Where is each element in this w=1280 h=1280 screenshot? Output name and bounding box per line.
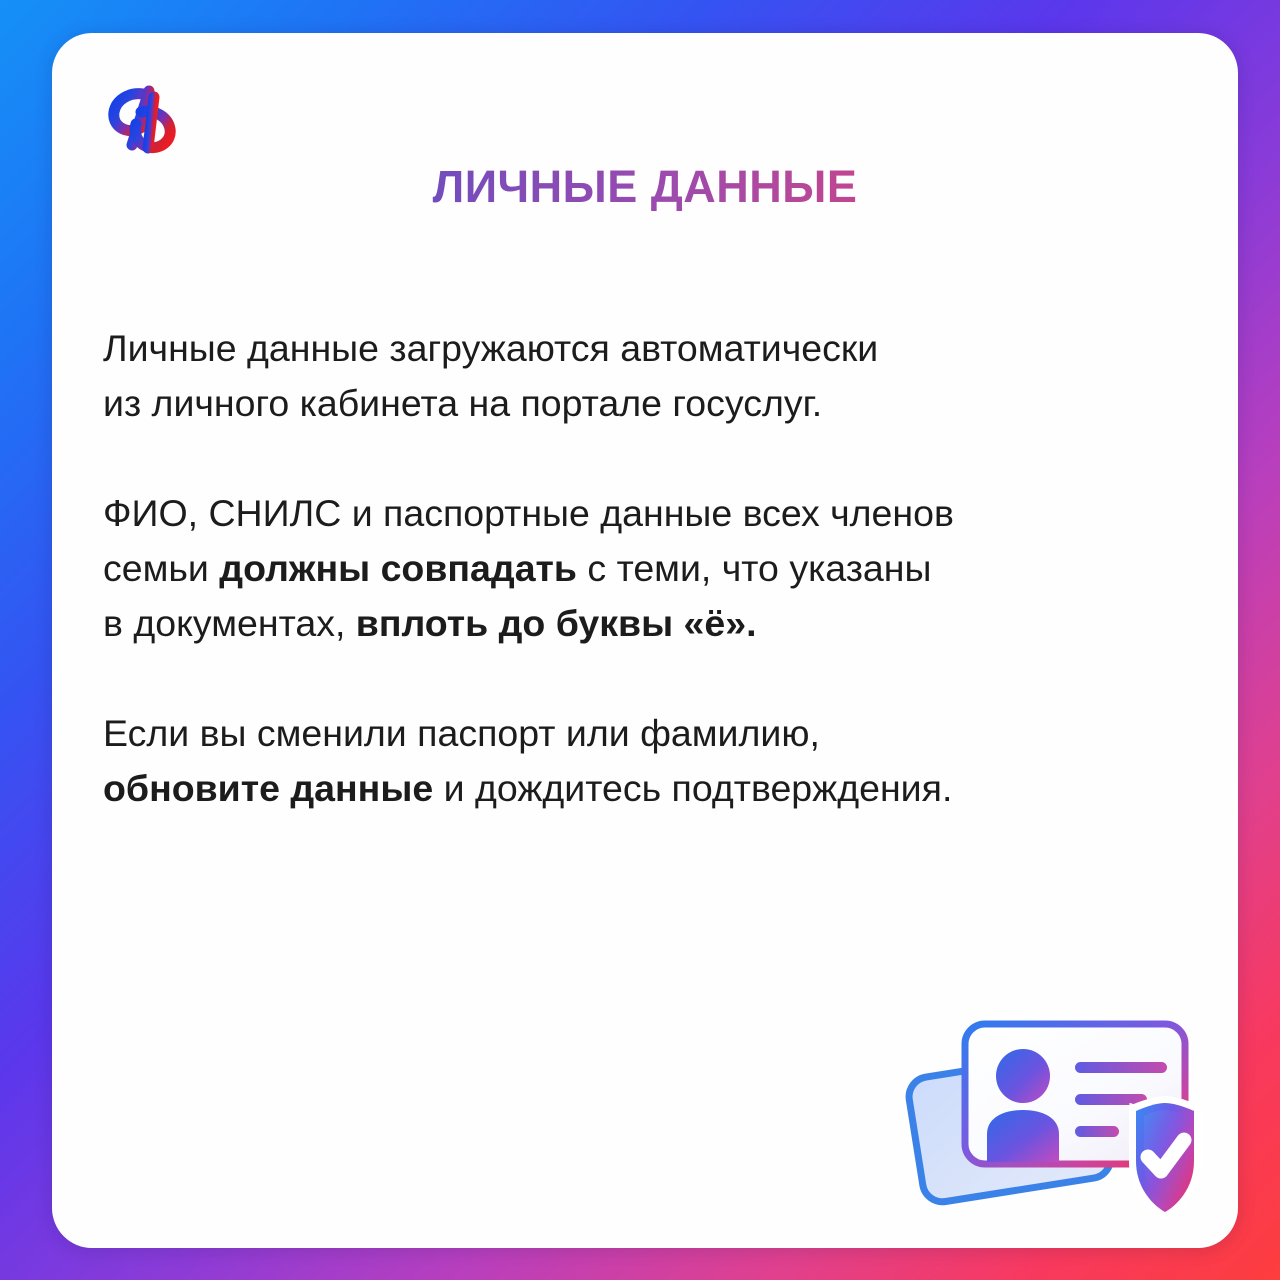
text-run: Личные данные загружаются автоматически xyxy=(103,327,878,369)
page-title: ЛИЧНЫЕ ДАННЫЕ xyxy=(52,161,1238,213)
text-run: должны совпадать xyxy=(219,547,577,589)
text-run: из личного кабинета на портале госуслуг. xyxy=(103,382,822,424)
text-run: вплоть до буквы «ё». xyxy=(356,602,757,644)
card-text-line-3 xyxy=(1075,1126,1119,1137)
text-run: с теми, что указаны xyxy=(577,547,931,589)
card-text-line-1 xyxy=(1075,1062,1167,1073)
paragraph-p2-line-3: в документах, вплоть до буквы «ё». xyxy=(103,596,1193,651)
text-run: и дождитесь подтверждения. xyxy=(433,767,952,809)
text-run: Если вы сменили паспорт или фамилию, xyxy=(103,712,820,754)
avatar-body xyxy=(987,1110,1059,1162)
paragraph-p2-line-2: семьи должны совпадать с теми, что указа… xyxy=(103,541,1193,596)
paragraph-p1-line-2: из личного кабинета на портале госуслуг. xyxy=(103,376,1193,431)
paragraph-p1: Личные данные загружаются автоматическии… xyxy=(103,321,1193,431)
id-card-with-shield-illustration xyxy=(903,1010,1213,1230)
shield-badge xyxy=(1129,1096,1201,1220)
avatar-head xyxy=(996,1049,1050,1103)
body-copy: Личные данные загружаются автоматическии… xyxy=(103,321,1193,816)
paragraph-p1-line-1: Личные данные загружаются автоматически xyxy=(103,321,1193,376)
text-run: обновите данные xyxy=(103,767,433,809)
sfr-logo xyxy=(102,83,182,159)
text-run: ФИО, СНИЛС и паспортные данные всех член… xyxy=(103,492,954,534)
paragraph-p2: ФИО, СНИЛС и паспортные данные всех член… xyxy=(103,486,1193,651)
content-card: ЛИЧНЫЕ ДАННЫЕ Личные данные загружаются … xyxy=(52,33,1238,1248)
text-run: в документах, xyxy=(103,602,356,644)
paragraph-p3-line-2: обновите данные и дождитесь подтверждени… xyxy=(103,761,1193,816)
text-run: семьи xyxy=(103,547,219,589)
paragraph-p3-line-1: Если вы сменили паспорт или фамилию, xyxy=(103,706,1193,761)
paragraph-p3: Если вы сменили паспорт или фамилию,обно… xyxy=(103,706,1193,816)
paragraph-p2-line-1: ФИО, СНИЛС и паспортные данные всех член… xyxy=(103,486,1193,541)
